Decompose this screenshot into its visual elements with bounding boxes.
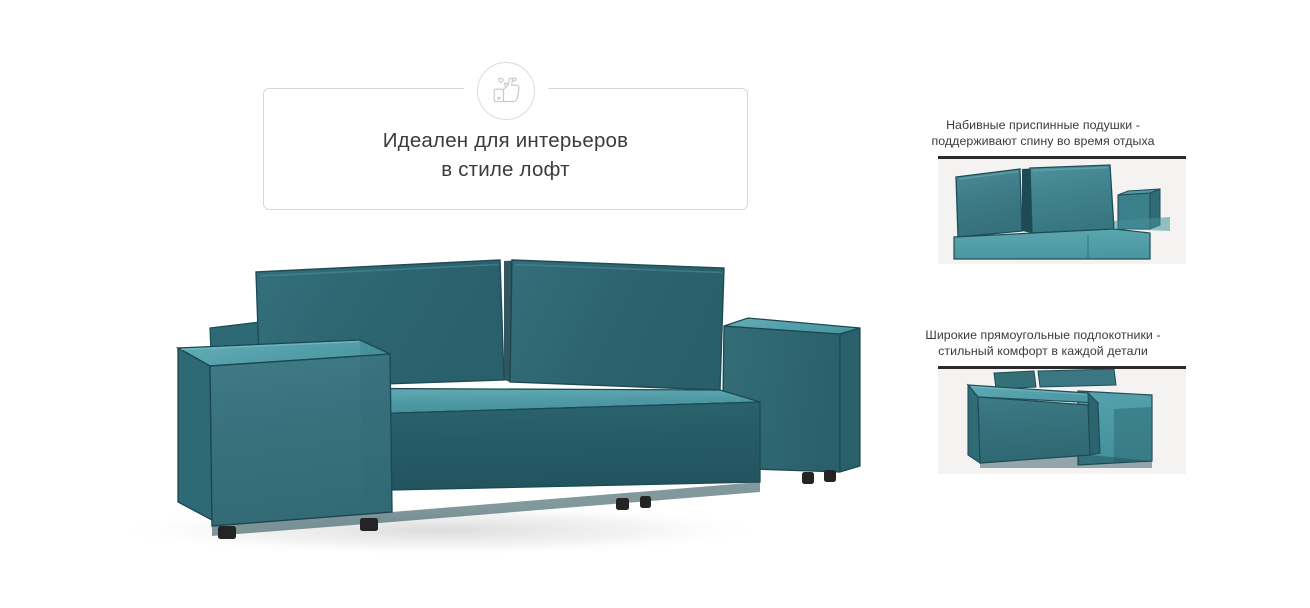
back-cushion-right — [510, 260, 724, 390]
leg — [640, 496, 651, 508]
icon-border-gap-right — [534, 84, 548, 93]
back-cushions-photo — [938, 156, 1186, 264]
feature-back-cushions: Набивные приспинные подушки - поддержива… — [893, 118, 1193, 264]
feature-armrests: Широкие прямоугольные подлокотники - сти… — [893, 328, 1193, 474]
leg — [802, 472, 814, 484]
icon-border-gap-left — [464, 84, 478, 93]
feature-caption: Широкие прямоугольные подлокотники - сти… — [893, 328, 1193, 359]
thumbs-up-hearts-icon — [477, 62, 535, 120]
leg — [616, 498, 629, 510]
leg — [824, 470, 836, 482]
infographic-page: Идеален для интерьеров в стиле лофт — [0, 0, 1310, 608]
armrest-left-outer — [178, 348, 212, 520]
leg — [218, 526, 236, 539]
armrest-right-side — [840, 328, 860, 472]
armrest-photo — [938, 366, 1186, 474]
callout-heading: Идеален для интерьеров в стиле лофт — [263, 126, 748, 184]
sofa-main-image — [60, 230, 880, 570]
leg — [360, 518, 378, 531]
feature-caption: Набивные приспинные подушки - поддержива… — [893, 118, 1193, 149]
